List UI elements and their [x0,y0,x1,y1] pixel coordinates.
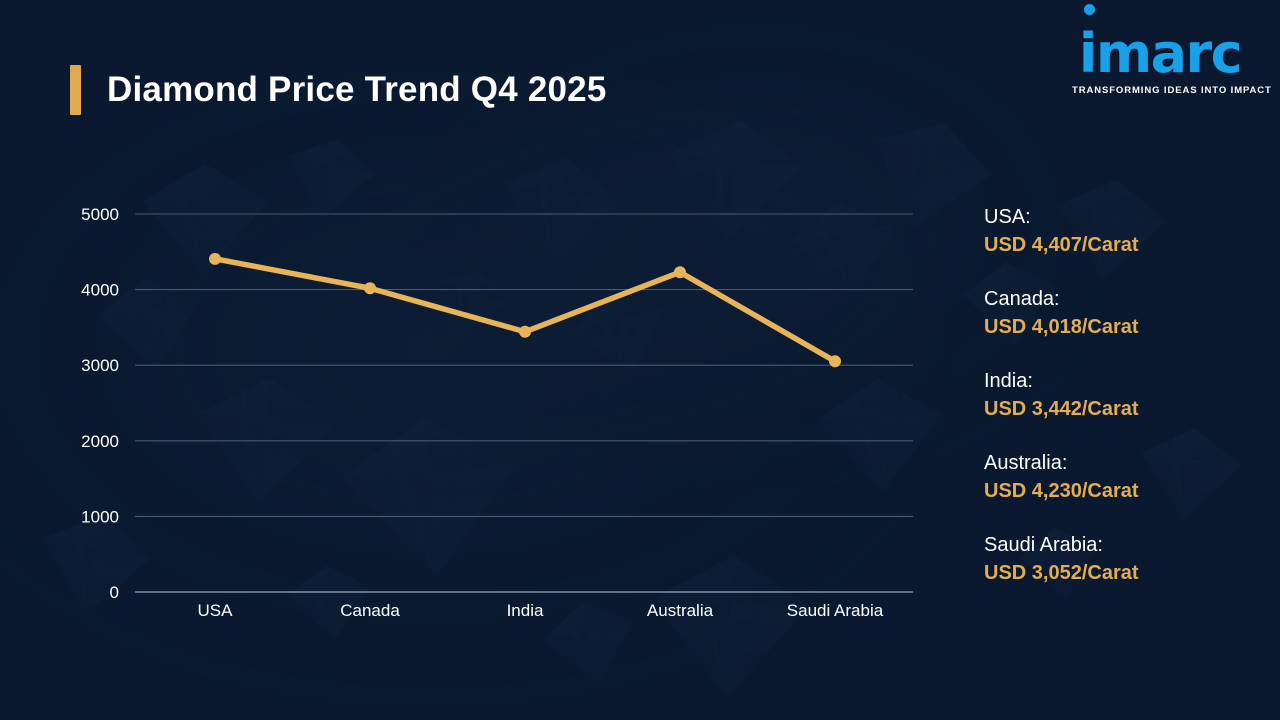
y-axis-tick-label: 4000 [81,281,119,300]
y-axis-tick-label: 5000 [81,205,119,224]
legend-item: Saudi Arabia: USD 3,052/Carat [984,531,1254,588]
data-point-marker [519,326,531,338]
x-axis-tick-label: Australia [647,601,714,620]
slide-canvas: Diamond Price Trend Q4 2025 imarc TRANSF… [0,0,1280,720]
legend-country-label: Canada: [984,285,1254,313]
legend-value: USD 4,018/Carat [984,313,1254,342]
x-axis-tick-label: Canada [340,601,400,620]
line-chart: 010002000300040005000 USACanadaIndiaAust… [0,0,960,720]
legend-value: USD 3,052/Carat [984,559,1254,588]
x-axis-tick-label: India [507,601,544,620]
y-axis-tick-labels: 010002000300040005000 [81,205,119,602]
y-axis-tick-label: 3000 [81,356,119,375]
data-point-marker [209,253,221,265]
y-axis-tick-label: 0 [110,583,119,602]
legend-country-label: Saudi Arabia: [984,531,1254,559]
x-axis-tick-label: Saudi Arabia [787,601,884,620]
value-legend-panel: USA: USD 4,407/Carat Canada: USD 4,018/C… [984,203,1254,588]
legend-value: USD 4,230/Carat [984,477,1254,506]
legend-item: Australia: USD 4,230/Carat [984,449,1254,506]
x-axis-tick-labels: USACanadaIndiaAustraliaSaudi Arabia [198,601,884,620]
logo-wordmark: imarc [1072,26,1248,82]
data-point-marker [674,266,686,278]
logo-tagline: TRANSFORMING IDEAS INTO IMPACT [1072,85,1248,96]
legend-country-label: USA: [984,203,1254,231]
legend-item: USA: USD 4,407/Carat [984,203,1254,260]
data-point-marker [829,355,841,367]
legend-country-label: Australia: [984,449,1254,477]
legend-country-label: India: [984,367,1254,395]
y-axis-tick-label: 1000 [81,507,119,526]
price-trend-line [215,259,835,361]
legend-item: India: USD 3,442/Carat [984,367,1254,424]
gridlines [135,214,913,592]
legend-value: USD 4,407/Carat [984,231,1254,260]
logo-dot-icon [1084,4,1095,15]
legend-value: USD 3,442/Carat [984,395,1254,424]
legend-item: Canada: USD 4,018/Carat [984,285,1254,342]
imarc-logo: imarc TRANSFORMING IDEAS INTO IMPACT [1072,26,1248,96]
y-axis-tick-label: 2000 [81,432,119,451]
data-point-marker [364,282,376,294]
x-axis-tick-label: USA [198,601,234,620]
